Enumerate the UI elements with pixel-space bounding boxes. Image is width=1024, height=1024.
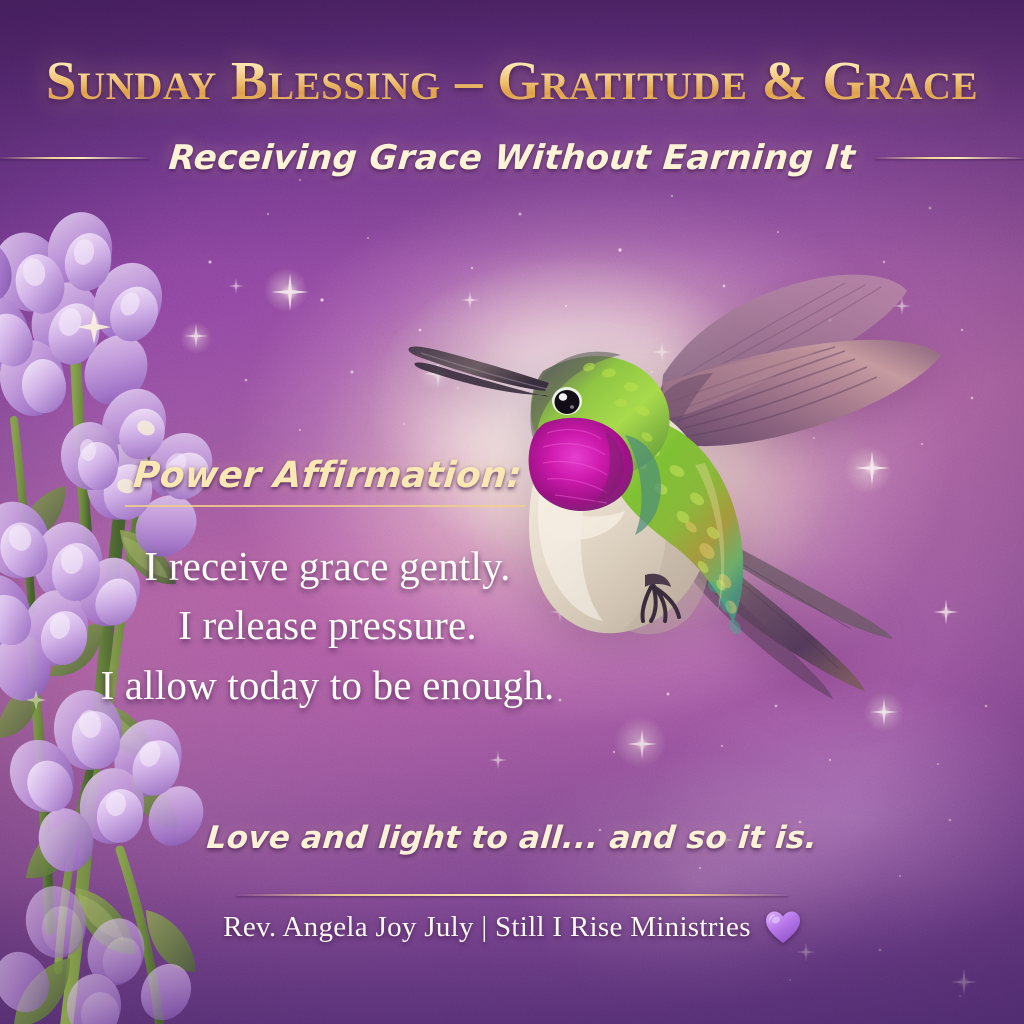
affirmation-line: I receive grace gently. — [55, 537, 600, 596]
page-title: Sunday Blessing – Gratitude & Grace — [0, 52, 1024, 109]
subtitle-row: Receiving Grace Without Earning It — [0, 138, 1024, 178]
affirmation-heading: Power Affirmation: — [125, 455, 530, 507]
affirmation-lines: I receive grace gently. I release pressu… — [55, 537, 600, 715]
affirmation-block: Power Affirmation: I receive grace gentl… — [55, 455, 600, 715]
footer-credit: Rev. Angela Joy July | Still I Rise Mini… — [223, 911, 751, 944]
affirmation-line: I release pressure. — [55, 596, 600, 655]
footer: Rev. Angela Joy July | Still I Rise Mini… — [0, 910, 1024, 944]
subtitle-rule-left — [0, 157, 149, 159]
subtitle-rule-right — [875, 157, 1024, 159]
content-layer: Sunday Blessing – Gratitude & Grace Rece… — [0, 0, 1024, 1024]
purple-heart-icon — [765, 910, 801, 944]
footer-divider — [236, 894, 788, 896]
closing-line: Love and light to all... and so it is. — [0, 820, 1024, 856]
header: Sunday Blessing – Gratitude & Grace — [0, 52, 1024, 109]
sunday-blessing-graphic: Sunday Blessing – Gratitude & Grace Rece… — [0, 0, 1024, 1024]
affirmation-line: I allow today to be enough. — [55, 656, 600, 715]
page-subtitle: Receiving Grace Without Earning It — [167, 138, 857, 178]
affirmation-heading-wrap: Power Affirmation: — [55, 455, 600, 507]
